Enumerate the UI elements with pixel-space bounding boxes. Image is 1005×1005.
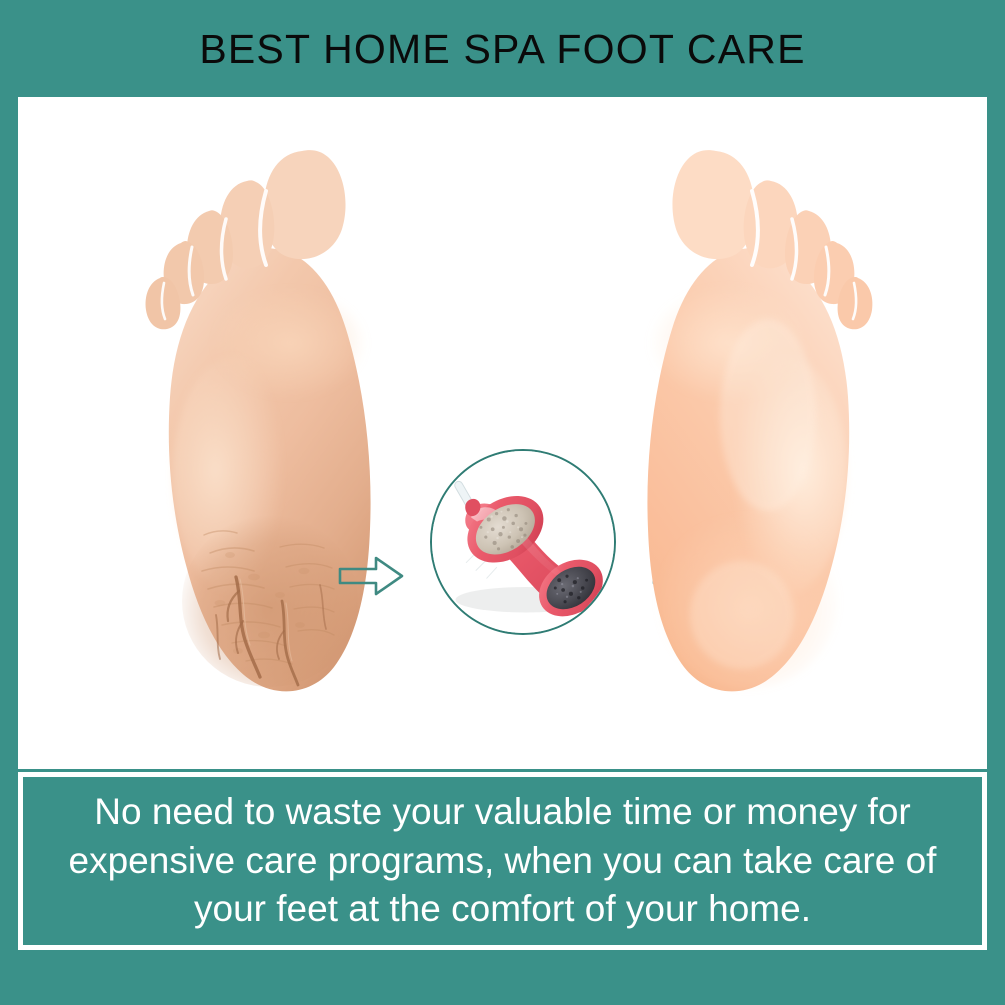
caption-panel: No need to waste your valuable time or m… xyxy=(18,772,987,950)
comparison-card: BEFORE AFTER xyxy=(18,97,987,769)
arrow-before-to-tool-icon xyxy=(336,552,406,600)
after-foot-image xyxy=(588,115,888,705)
before-foot-image xyxy=(130,115,430,705)
page-title: BEST HOME SPA FOOT CARE xyxy=(0,26,1005,73)
caption-text: No need to waste your valuable time or m… xyxy=(37,788,968,934)
poster-root: BEST HOME SPA FOOT CARE xyxy=(0,0,1005,1005)
